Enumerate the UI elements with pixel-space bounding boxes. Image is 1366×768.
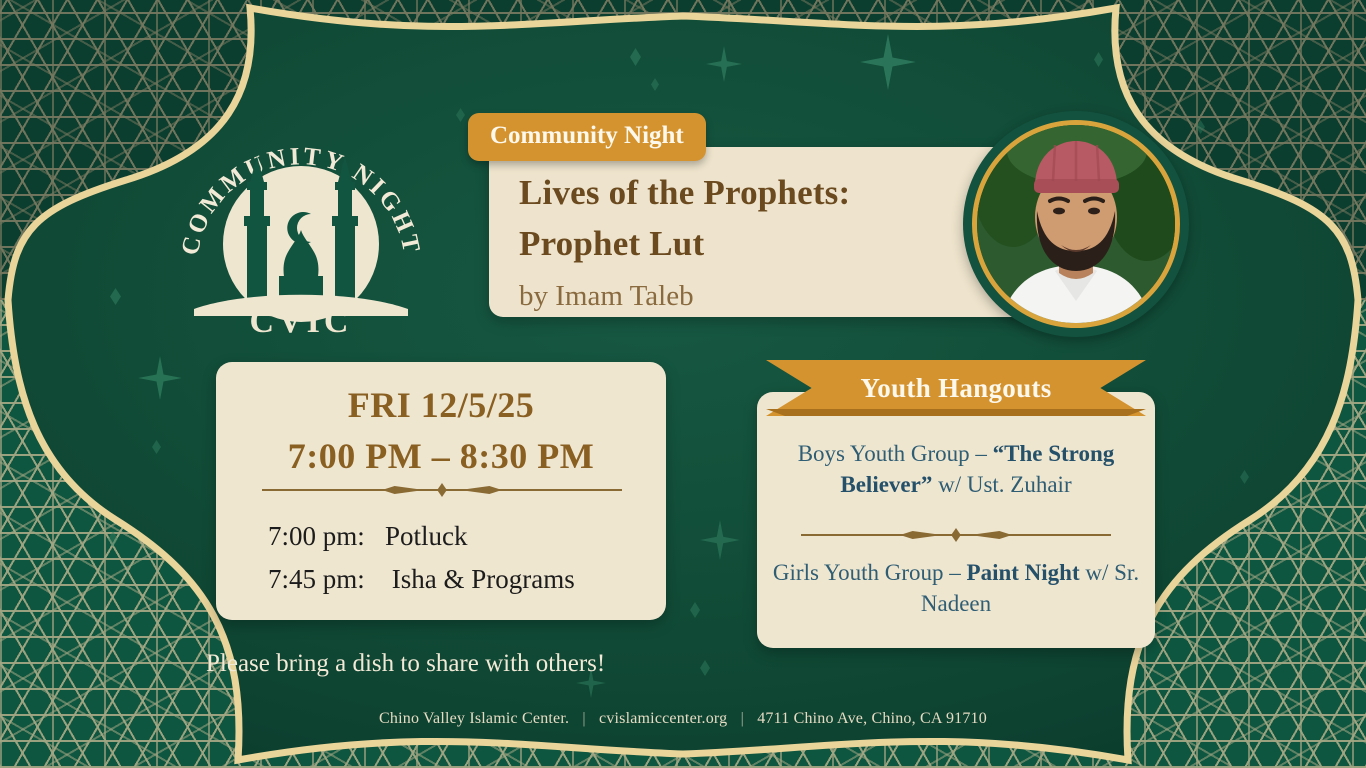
footer-website[interactable]: cvislamiccenter.org [599,710,727,727]
event-poster: COMMUNITY NIGHT [0,0,1366,768]
potluck-note: Please bring a dish to share with others… [206,650,605,678]
schedule-activity: Isha & Programs [392,564,575,594]
schedule-time: 7:00 pm: [268,521,365,551]
schedule-row: 7:45 pm: Isha & Programs [268,558,648,601]
youth-entry-boys: Boys Youth Group – “The Strong Believer”… [771,438,1141,501]
youth-entry-tail: w/ Ust. Zuhair [932,472,1071,497]
portrait-image [977,125,1175,323]
title-line-1: Lives of the Prophets: [519,168,989,219]
speaker-byline: by Imam Taleb [519,277,989,316]
youth-entry-girls: Girls Youth Group – Paint Night w/ Sr. N… [771,557,1141,620]
footer-separator: | [573,710,594,727]
ornament-divider [262,483,622,497]
youth-entry-lead: Boys Youth Group – [798,441,993,466]
youth-hangouts-ribbon: Youth Hangouts [766,360,1146,416]
youth-entry-lead: Girls Youth Group – [773,560,967,585]
logo-acronym: CVIC [250,303,353,336]
event-time-range: 7:00 PM – 8:30 PM [216,435,666,477]
schedule-activity: Potluck [385,521,468,551]
community-night-badge: Community Night [468,113,706,161]
event-date: FRI 12/5/25 [216,384,666,426]
footer-address: 4711 Chino Ave, Chino, CA 91710 [757,710,987,727]
title-line-2: Prophet Lut [519,219,989,270]
schedule-time: 7:45 pm: [268,564,365,594]
title-block: Lives of the Prophets: Prophet Lut by Im… [519,168,989,316]
ribbon-label: Youth Hangouts [766,360,1146,416]
footer-contact: Chino Valley Islamic Center. | cvislamic… [0,710,1366,728]
speaker-portrait [963,111,1189,337]
ornament-divider [801,528,1111,542]
schedule-row: 7:00 pm: Potluck [268,515,648,558]
cvic-logo: COMMUNITY NIGHT [176,104,426,336]
footer-organization: Chino Valley Islamic Center. [379,710,569,727]
footer-separator: | [732,710,753,727]
youth-entry-emphasis: Paint Night [967,560,1080,585]
schedule-list: 7:00 pm: Potluck 7:45 pm: Isha & Program… [268,515,648,601]
